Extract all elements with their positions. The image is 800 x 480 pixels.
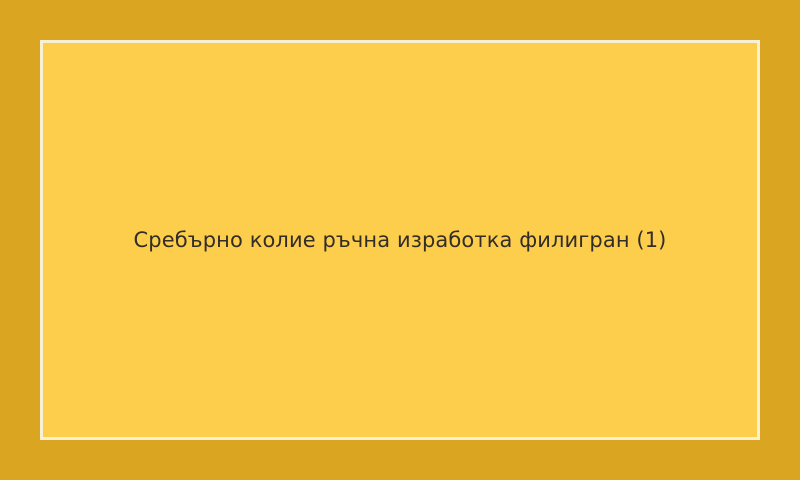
page-background: Сребърно колие ръчна изработка филигран … <box>0 0 800 480</box>
placeholder-caption-text: Сребърно колие ръчна изработка филигран … <box>43 227 757 253</box>
placeholder-image-card: Сребърно колие ръчна изработка филигран … <box>40 40 760 440</box>
